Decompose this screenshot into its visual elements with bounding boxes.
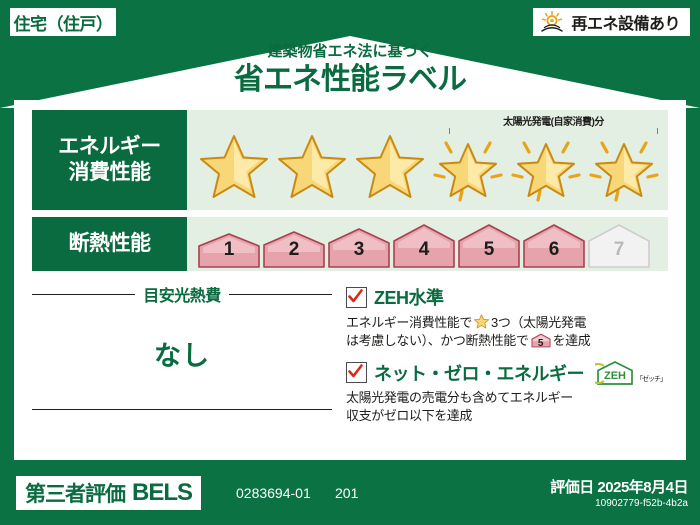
star-filled: [351, 128, 429, 206]
insulation-level-label: 3: [327, 239, 391, 261]
insulation-level-4: 4: [392, 217, 456, 271]
renewable-equipment-chip: 再エネ設備あり: [531, 6, 692, 38]
utility-cost-value: なし: [32, 334, 332, 373]
insulation-level-6: 6: [522, 217, 586, 271]
insulation-performance-key: 断熱性能: [32, 217, 187, 271]
criterion-title-row: ZEH水準: [346, 284, 672, 310]
utility-cost-block: 目安光熱費 なし: [32, 282, 332, 435]
insulation-level-3: 3: [327, 217, 391, 271]
energy-performance-key: エネルギー 消費性能: [32, 110, 187, 210]
zeh-logo-badge: ZEH 「ゼッチ」: [595, 360, 666, 386]
criteria-block: ZEH水準 エネルギー消費性能で3つ（太陽光発電は考慮しない）、かつ断熱性能で5…: [346, 282, 672, 435]
desc-part-3: は考慮しない）、かつ断熱性能で: [346, 333, 529, 348]
rule-left: [32, 294, 135, 295]
footer-bar: 第三者評価 BELS 0283694-01 201 評価日 2025年8月4日 …: [0, 468, 700, 525]
star-filled: [273, 128, 351, 206]
title-subtitle: 建築物省エネ法に基づく: [0, 44, 700, 61]
house-inline-icon: 5: [531, 332, 551, 349]
insulation-level-5: 5: [457, 217, 521, 271]
zeh-logo-ruby: 「ゼッチ」: [636, 374, 666, 386]
star-filled: [195, 128, 273, 206]
star-filled-solar: [585, 128, 663, 206]
criterion-title: ネット・ゼロ・エネルギー: [374, 360, 584, 386]
insulation-level-label: 7: [587, 239, 651, 261]
star-filled-solar: [429, 128, 507, 206]
bels-certification-chip: 第三者評価 BELS: [16, 476, 201, 510]
unit-number: 201: [335, 485, 358, 501]
desc-part-1: エネルギー消費性能で: [346, 315, 472, 330]
house-inline-level: 5: [531, 339, 551, 349]
checkbox-checked-icon: [346, 362, 367, 383]
insulation-key-label: 断熱性能: [69, 231, 151, 257]
energy-key-line1: エネルギー: [58, 134, 161, 160]
criterion-description: 太陽光発電の売電分も含めてエネルギー収支がゼロ以下を達成: [346, 389, 672, 426]
bels-logo-text: BELS: [132, 479, 192, 507]
insulation-level-label: 4: [392, 239, 456, 261]
evaluation-date: 評価日 2025年8月4日: [550, 476, 688, 497]
insulation-level-label: 1: [197, 239, 261, 261]
desc-line-2: 収支がゼロ以下を達成: [346, 408, 472, 423]
insulation-level-7: 7: [587, 217, 651, 271]
title-block: 建築物省エネ法に基づく 省エネ性能ラベル: [0, 44, 700, 98]
insulation-level-2: 2: [262, 217, 326, 271]
bottom-section: 目安光熱費 なし ZEH水準 エネルギー消費性能で3つ（太陽光発電は考: [32, 282, 672, 435]
criterion-title-row: ネット・ゼロ・エネルギー ZEH 「ゼッチ」: [346, 360, 672, 386]
criterion-title: ZEH水準: [374, 284, 444, 310]
desc-star-count: 3つ: [491, 315, 510, 330]
insulation-level-scale: 1 2 3: [197, 217, 664, 271]
category-chip-label: 住宅（住戸）: [14, 10, 113, 35]
desc-part-4: を達成: [553, 333, 591, 348]
third-party-label: 第三者評価: [25, 478, 125, 508]
desc-part-2: （太陽光発電: [510, 315, 586, 330]
energy-label-card: 住宅（住戸） 再エネ設備あり 建築物省エネ法に基づく 省エネ性能ラベル: [0, 0, 700, 525]
utility-cost-heading: 目安光熱費: [32, 282, 332, 306]
svg-text:ZEH: ZEH: [604, 370, 626, 382]
criterion-description: エネルギー消費性能で3つ（太陽光発電は考慮しない）、かつ断熱性能で5を達成: [346, 313, 672, 351]
insulation-level-label: 5: [457, 239, 521, 261]
rule-right: [229, 294, 332, 295]
star-rating: [195, 128, 662, 206]
star-filled-solar: [507, 128, 585, 206]
sun-icon: [539, 10, 565, 34]
criterion-net-zero-energy: ネット・ゼロ・エネルギー ZEH 「ゼッチ」 太陽光発電の売電分も含めてエネルギ…: [346, 360, 672, 426]
energy-performance-value: 太陽光発電(自家消費)分: [187, 110, 668, 210]
insulation-performance-value: 1 2 3: [187, 217, 668, 271]
row-energy-performance: エネルギー 消費性能 太陽光発電(自家消費)分: [32, 110, 668, 210]
renewable-chip-label: 再エネ設備あり: [571, 10, 680, 34]
desc-line-1: 太陽光発電の売電分も含めてエネルギー: [346, 390, 573, 405]
page-title: 省エネ性能ラベル: [0, 61, 700, 99]
energy-key-line2: 消費性能: [69, 160, 151, 186]
solar-bracket-label: 太陽光発電(自家消費)分: [449, 113, 658, 128]
insulation-level-label: 2: [262, 239, 326, 261]
evaluation-hash: 10902779-f52b-4b2a: [595, 498, 688, 509]
insulation-level-1: 1: [197, 217, 261, 271]
utility-cost-bottom-rule: [32, 409, 332, 410]
insulation-level-label: 6: [522, 239, 586, 261]
category-chip: 住宅（住戸）: [8, 6, 118, 38]
zeh-house-icon: ZEH: [595, 360, 635, 386]
star-inline-icon: [473, 313, 490, 330]
certificate-number: 0283694-01: [236, 485, 311, 501]
performance-rows: エネルギー 消費性能 太陽光発電(自家消費)分: [32, 110, 668, 278]
criterion-zeh-standard: ZEH水準 エネルギー消費性能で3つ（太陽光発電は考慮しない）、かつ断熱性能で5…: [346, 284, 672, 351]
checkbox-checked-icon: [346, 287, 367, 308]
utility-cost-title: 目安光熱費: [143, 282, 221, 306]
row-insulation-performance: 断熱性能 1: [32, 217, 668, 271]
